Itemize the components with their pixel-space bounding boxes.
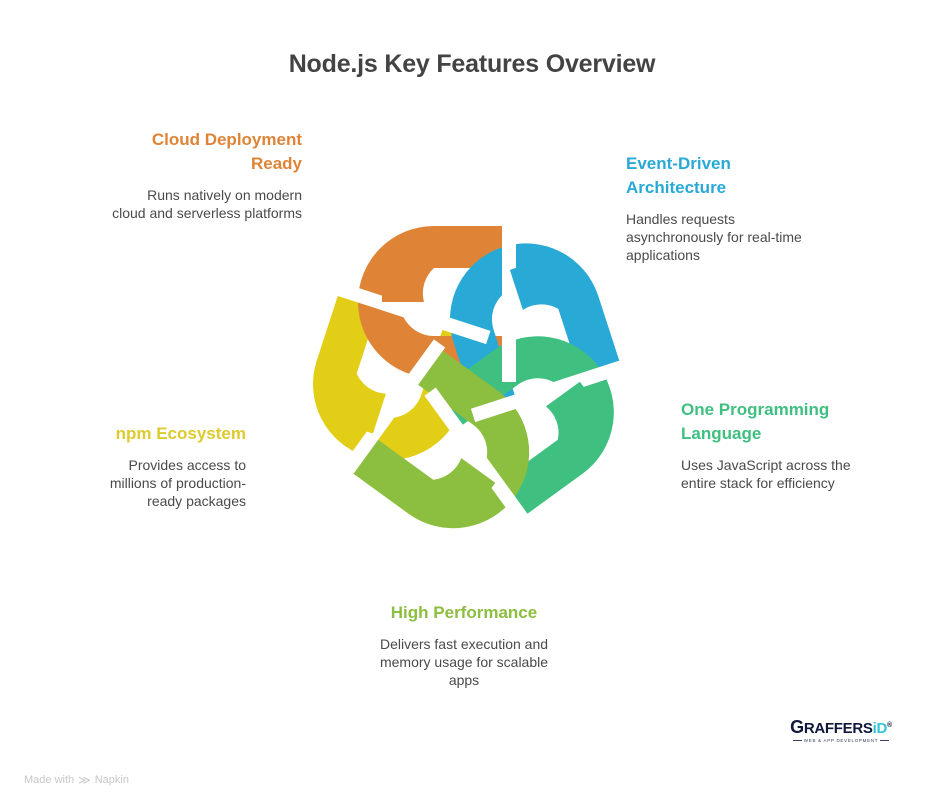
logo-trademark-icon: ® (887, 722, 892, 729)
feature-event-driven-architecture: Event-Driven Architecture Handles reques… (626, 152, 826, 264)
logo-word-dark: RAFFERS (804, 720, 873, 737)
feature-description: Handles requests asynchronously for real… (626, 210, 826, 264)
logo-wordmark: GRAFFERSiD® (789, 717, 893, 737)
page-title: Node.js Key Features Overview (0, 50, 944, 79)
napkin-logo-icon: ≫ (78, 773, 91, 787)
knot-svg (258, 178, 678, 582)
feature-cloud-deployment-ready: Cloud Deployment Ready Runs natively on … (110, 128, 302, 222)
feature-high-performance: High Performance Delivers fast execution… (368, 601, 560, 689)
logo-tagline: WEB & APP DEVELOPMENT (789, 738, 893, 743)
logo-letter-g: G (790, 717, 804, 737)
feature-heading: One Programming Language (681, 398, 881, 446)
feature-heading: Cloud Deployment Ready (110, 128, 302, 176)
feature-heading: High Performance (368, 601, 560, 625)
watermark-prefix: Made with (24, 774, 74, 786)
logo-rule-right (880, 740, 889, 741)
graffersid-logo: GRAFFERSiD® WEB & APP DEVELOPMENT (789, 717, 893, 749)
feature-heading: Event-Driven Architecture (626, 152, 826, 200)
feature-heading: npm Ecosystem (85, 422, 246, 446)
napkin-watermark: Made with ≫ Napkin (24, 773, 129, 787)
feature-description: Uses JavaScript across the entire stack … (681, 456, 881, 492)
logo-tagline-text: WEB & APP DEVELOPMENT (804, 738, 878, 743)
watermark-brand: Napkin (95, 774, 129, 786)
logo-word-accent: iD (873, 720, 887, 737)
feature-description: Runs natively on modern cloud and server… (110, 186, 302, 222)
feature-description: Provides access to millions of productio… (85, 456, 246, 510)
feature-description: Delivers fast execution and memory usage… (368, 635, 560, 689)
feature-one-programming-language: One Programming Language Uses JavaScript… (681, 398, 881, 492)
feature-npm-ecosystem: npm Ecosystem Provides access to million… (85, 422, 246, 510)
pentagonal-knot-graphic (258, 178, 678, 582)
logo-rule-left (793, 740, 802, 741)
